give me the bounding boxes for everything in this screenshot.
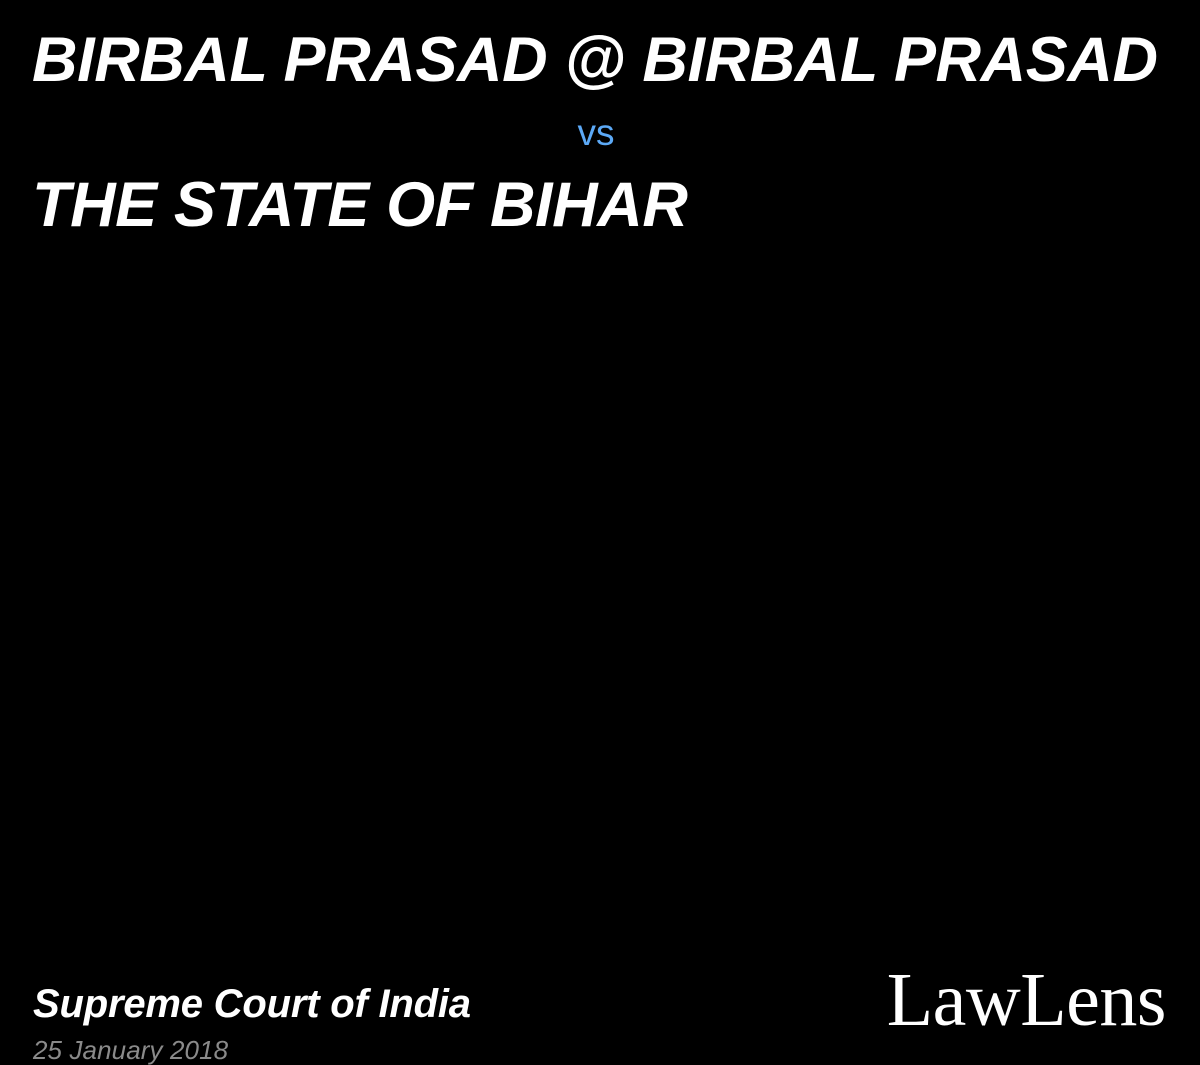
respondent-name: THE STATE OF BIHAR xyxy=(32,172,1172,239)
versus-label: vs xyxy=(578,114,615,151)
card-footer: Supreme Court of India 25 January 2018 L… xyxy=(0,470,1200,630)
petitioner-name: BIRBAL PRASAD @ BIRBAL PRASAD SAH... xyxy=(32,27,1172,94)
case-card: BIRBAL PRASAD @ BIRBAL PRASAD SAH... vs … xyxy=(0,0,1200,630)
lawlens-logo: LawLens xyxy=(887,962,1166,1038)
versus-row: vs xyxy=(0,114,1192,151)
judgment-date: 25 January 2018 xyxy=(33,1036,228,1065)
court-name: Supreme Court of India xyxy=(33,982,471,1026)
